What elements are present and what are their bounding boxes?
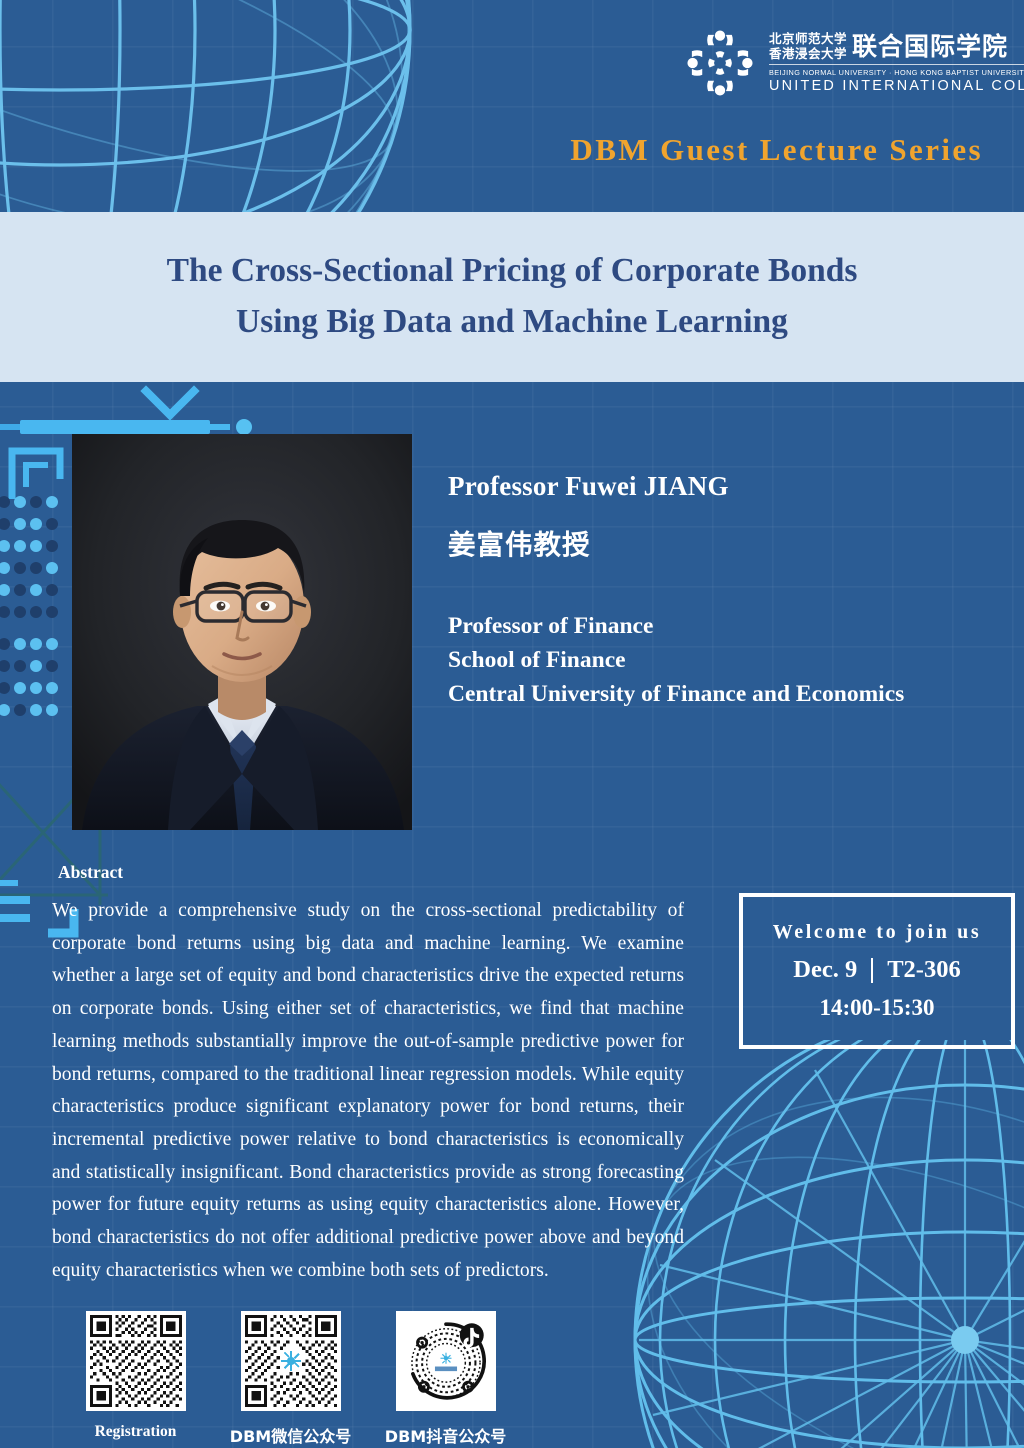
series-title: DBM Guest Lecture Series (570, 132, 983, 168)
event-separator (871, 958, 873, 983)
event-date-venue: Dec. 9 T2-306 (793, 955, 960, 986)
corner-bracket-top-left-icon (8, 445, 64, 503)
uic-logo-mark-icon (683, 26, 757, 100)
dash-stack-decoration (0, 880, 40, 932)
speaker-portrait-illustration (72, 434, 412, 830)
douyin-qr-code[interactable] (396, 1311, 496, 1411)
dot-matrix-decoration (0, 492, 66, 732)
douyin-qr-icon (400, 1315, 492, 1407)
accent-bar-decoration (0, 419, 270, 435)
qr-item-wechat[interactable]: DBM微信公众号 (213, 1311, 368, 1447)
abstract-heading: Abstract (58, 862, 123, 883)
logo-divider (769, 64, 1024, 65)
affiliation-line-1: Professor of Finance (448, 610, 1008, 644)
logo-cn-line2: 香港浸会大学 (769, 47, 847, 62)
event-venue: T2-306 (887, 955, 961, 986)
registration-qr-code[interactable] (86, 1311, 186, 1411)
lecture-title-line1: The Cross-Sectional Pricing of Corporate… (167, 246, 858, 297)
qr-caption-wechat: DBM微信公众号 (230, 1423, 351, 1447)
logo-cn-big: 联合国际学院 (852, 34, 1008, 59)
qr-item-douyin[interactable]: DBM抖音公众号 (368, 1311, 523, 1447)
logo-en-line2: UNITED INTERNATIONAL COLLEGE (769, 78, 1024, 94)
speaker-name-cn: 姜富伟教授 (448, 529, 1008, 562)
logo-en-line1: BEIJING NORMAL UNIVERSITY · HONG KONG BA… (769, 68, 1024, 77)
chevron-down-icon (140, 385, 200, 425)
speaker-details: Professor Fuwei JIANG 姜富伟教授 Professor of… (448, 470, 1008, 712)
speaker-affiliation: Professor of Finance School of Finance C… (448, 610, 1008, 711)
accent-bar-segment-left (0, 424, 150, 430)
speaker-name-en: Professor Fuwei JIANG (448, 470, 1008, 502)
event-info-box: Welcome to join us Dec. 9 T2-306 14:00-1… (739, 893, 1015, 1049)
speaker-photo (72, 434, 412, 830)
event-date: Dec. 9 (793, 955, 857, 986)
welcome-text: Welcome to join us (773, 919, 981, 945)
accent-bar-dot (236, 419, 252, 435)
affiliation-line-2: School of Finance (448, 644, 1008, 678)
qr-caption-registration: Registration (95, 1423, 177, 1441)
event-time: 14:00-15:30 (820, 994, 935, 1023)
wechat-qr-code[interactable] (241, 1311, 341, 1411)
accent-bar-segment-right (210, 424, 230, 430)
lecture-title-line2: Using Big Data and Machine Learning (236, 297, 788, 348)
poster-root: 北京师范大学 香港浸会大学 联合国际学院 BEIJING NORMAL UNIV… (0, 0, 1024, 1448)
uic-logo: 北京师范大学 香港浸会大学 联合国际学院 BEIJING NORMAL UNIV… (683, 24, 993, 102)
qr-item-registration[interactable]: Registration (58, 1311, 213, 1447)
accent-bar-segment-main (20, 420, 210, 434)
affiliation-line-3: Central University of Finance and Econom… (448, 678, 1008, 712)
abstract-body: We provide a comprehensive study on the … (52, 895, 684, 1288)
wechat-qr-icon (245, 1315, 337, 1407)
qr-caption-douyin: DBM抖音公众号 (385, 1423, 506, 1447)
qr-matrix-icon (90, 1315, 182, 1407)
lecture-title-band: The Cross-Sectional Pricing of Corporate… (0, 212, 1024, 382)
logo-cn-line1: 北京师范大学 (769, 32, 847, 47)
qr-code-row: Registration (58, 1311, 523, 1447)
